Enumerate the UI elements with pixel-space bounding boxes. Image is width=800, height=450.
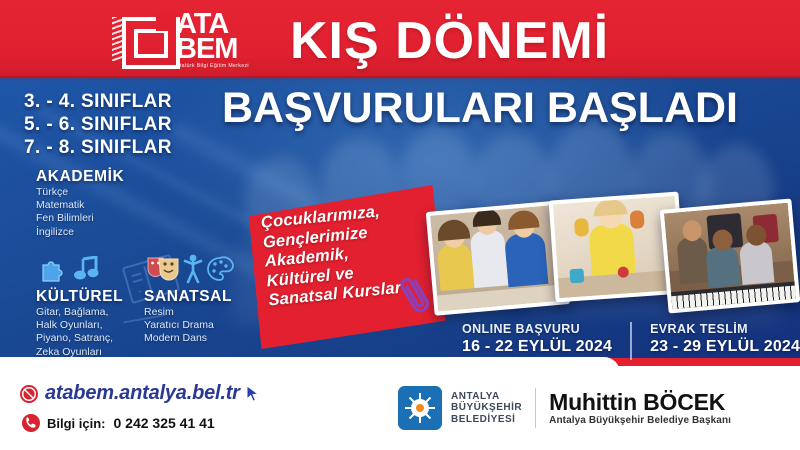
category-title: SANATSAL (144, 288, 232, 306)
music-note-icon (72, 256, 100, 282)
atabem-winter-term-poster: ATA BEM Atatürk Bilgi Eğitim Merkezi KIŞ… (0, 0, 800, 450)
logo-notch (156, 13, 176, 31)
logo-line-bem: BEM (176, 37, 280, 62)
globe-icon (20, 385, 38, 403)
date-label: ONLINE BAŞVURU (462, 322, 612, 337)
municipality-name-line2: BÜYÜKŞEHİR (451, 402, 522, 414)
category-item: Modern Dans (144, 332, 232, 345)
municipality-block: ANTALYA BÜYÜKŞEHİR BELEDİYESİ Muhittin B… (398, 386, 731, 430)
application-dates: ONLINE BAŞVURU 16 - 22 EYLÜL 2024 EVRAK … (462, 322, 800, 360)
phone-label: Bilgi için: (47, 416, 106, 431)
theater-masks-icon (146, 256, 180, 282)
municipality-name: ANTALYA BÜYÜKŞEHİR BELEDİYESİ (451, 391, 522, 426)
grade-level-item: 7. - 8. SINIFLAR (24, 136, 172, 159)
category-sanatsal: SANATSAL Resim Yaratıcı Drama Modern Dan… (144, 288, 232, 346)
date-label: EVRAK TESLİM (650, 322, 800, 337)
mayor-name: Muhittin BÖCEK (549, 390, 731, 415)
category-item: İngilizce (36, 226, 124, 239)
municipality-name-line3: BELEDİYESİ (451, 414, 522, 426)
category-item: Gitar, Bağlama, (36, 306, 123, 319)
category-kulturel: KÜLTÜREL Gitar, Bağlama, Halk Oyunları, … (36, 288, 123, 359)
category-item: Türkçe (36, 186, 124, 199)
date-value: 23 - 29 EYLÜL 2024 (650, 337, 800, 356)
grade-level-item: 5. - 6. SINIFLAR (24, 113, 172, 136)
children-piano-photo (660, 198, 800, 313)
grade-levels-list: 3. - 4. SINIFLAR 5. - 6. SINIFLAR 7. - 8… (24, 90, 172, 159)
municipality-name-line1: ANTALYA (451, 391, 522, 403)
municipality-divider (535, 388, 536, 428)
category-akademik: AKADEMİK Türkçe Matematik Fen Bilimleri … (36, 168, 124, 239)
logo-inner-square (134, 29, 168, 58)
category-item: Yaratıcı Drama (144, 319, 232, 332)
atabem-logo-text: ATA BEM Atatürk Bilgi Eğitim Merkezi (176, 12, 280, 69)
date-divider (630, 322, 632, 360)
phone-number[interactable]: 0 242 325 41 41 (114, 415, 215, 431)
grade-level-item: 3. - 4. SINIFLAR (24, 90, 172, 113)
date-value: 16 - 22 EYLÜL 2024 (462, 337, 612, 356)
category-item: Piyano, Satranç, (36, 332, 123, 345)
atabem-logo: ATA BEM Atatürk Bilgi Eğitim Merkezi (112, 13, 277, 69)
online-application-block: ONLINE BAŞVURU 16 - 22 EYLÜL 2024 (462, 322, 612, 356)
headline-applications-started: BAŞVURULARI BAŞLADI (222, 84, 738, 133)
category-item: Halk Oyunları, (36, 319, 123, 332)
category-item: Matematik (36, 199, 124, 212)
phone-icon (22, 414, 40, 432)
website-url[interactable]: atabem.antalya.bel.tr (45, 382, 240, 405)
category-item: Resim (144, 306, 232, 319)
mayor-title: Antalya Büyükşehir Belediye Başkanı (549, 415, 731, 426)
students-writing-photo (426, 200, 571, 315)
antalya-sun-emblem-icon (398, 386, 442, 430)
puzzle-piece-icon (40, 258, 66, 282)
headline-winter-term: KIŞ DÖNEMİ (290, 11, 609, 71)
dancer-icon (182, 254, 204, 284)
category-item: Fen Bilimleri (36, 212, 124, 225)
website-row[interactable]: atabem.antalya.bel.tr (20, 382, 261, 405)
mayor-block: Muhittin BÖCEK Antalya Büyükşehir Beledi… (549, 390, 731, 426)
mouse-cursor-icon (245, 385, 261, 403)
category-title: KÜLTÜREL (36, 288, 123, 306)
document-submission-block: EVRAK TESLİM 23 - 29 EYLÜL 2024 (650, 322, 800, 356)
logo-subtitle: Atatürk Bilgi Eğitim Merkezi (176, 63, 280, 69)
paint-palette-icon (206, 256, 234, 282)
category-title: AKADEMİK (36, 168, 124, 186)
atabem-square-logo-icon (112, 15, 174, 63)
phone-row[interactable]: Bilgi için: 0 242 325 41 41 (22, 414, 215, 432)
